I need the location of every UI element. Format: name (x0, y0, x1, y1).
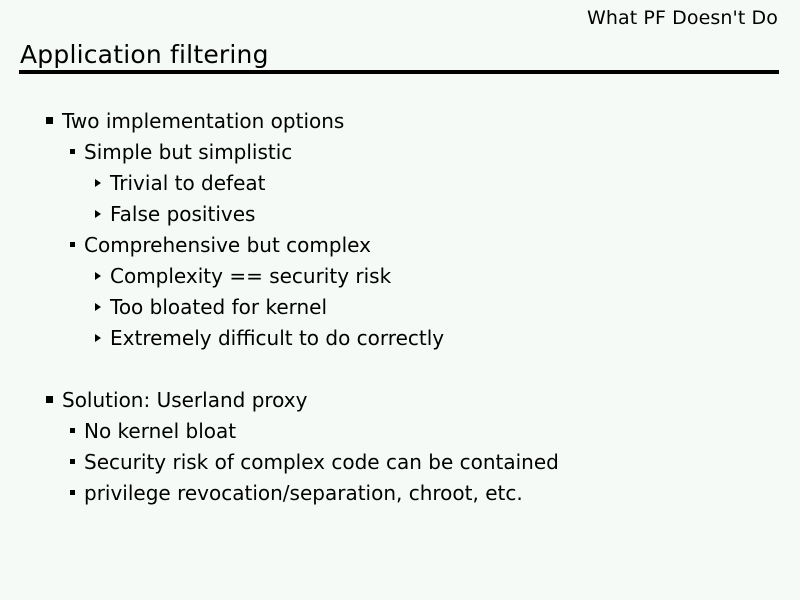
triangle-bullet-icon (95, 272, 101, 280)
square-bullet-icon (46, 396, 53, 403)
square-bullet-small-icon (70, 242, 75, 247)
list-item-label: Trivial to defeat (110, 170, 266, 196)
list-item-label: False positives (110, 201, 255, 227)
list-item: Too bloated for kernel (0, 294, 800, 325)
square-bullet-icon (46, 117, 53, 124)
slide-header-label: What PF Doesn't Do (20, 6, 778, 30)
list-item: Comprehensive but complex (0, 232, 800, 263)
list-item-label: Simple but simplistic (84, 139, 292, 165)
bullet-spacer (0, 356, 800, 387)
presentation-slide: What PF Doesn't Do Application filtering… (0, 0, 800, 600)
page-title: Application filtering (20, 40, 269, 70)
list-item-label: No kernel bloat (84, 418, 236, 444)
list-item: Extremely difficult to do correctly (0, 325, 800, 356)
triangle-bullet-icon (95, 334, 101, 342)
triangle-bullet-icon (95, 303, 101, 311)
list-item: Solution: Userland proxy (0, 387, 800, 418)
list-item: Security risk of complex code can be con… (0, 449, 800, 480)
list-item-label: Solution: Userland proxy (62, 387, 307, 413)
list-item-label: privilege revocation/separation, chroot,… (84, 480, 523, 506)
title-divider (19, 70, 779, 74)
square-bullet-small-icon (70, 490, 75, 495)
list-item-label: Security risk of complex code can be con… (84, 449, 559, 475)
square-bullet-small-icon (70, 459, 75, 464)
list-item-label: Too bloated for kernel (110, 294, 327, 320)
bullet-list: Two implementation optionsSimple but sim… (0, 108, 800, 511)
square-bullet-small-icon (70, 149, 75, 154)
list-item-label: Extremely difficult to do correctly (110, 325, 444, 351)
list-item: No kernel bloat (0, 418, 800, 449)
list-item: Trivial to defeat (0, 170, 800, 201)
square-bullet-small-icon (70, 428, 75, 433)
list-item: privilege revocation/separation, chroot,… (0, 480, 800, 511)
triangle-bullet-icon (95, 210, 101, 218)
list-item: False positives (0, 201, 800, 232)
triangle-bullet-icon (95, 179, 101, 187)
list-item: Simple but simplistic (0, 139, 800, 170)
list-item-label: Comprehensive but complex (84, 232, 371, 258)
list-item: Complexity == security risk (0, 263, 800, 294)
list-item-label: Complexity == security risk (110, 263, 391, 289)
list-item-label: Two implementation options (62, 108, 344, 134)
list-item: Two implementation options (0, 108, 800, 139)
